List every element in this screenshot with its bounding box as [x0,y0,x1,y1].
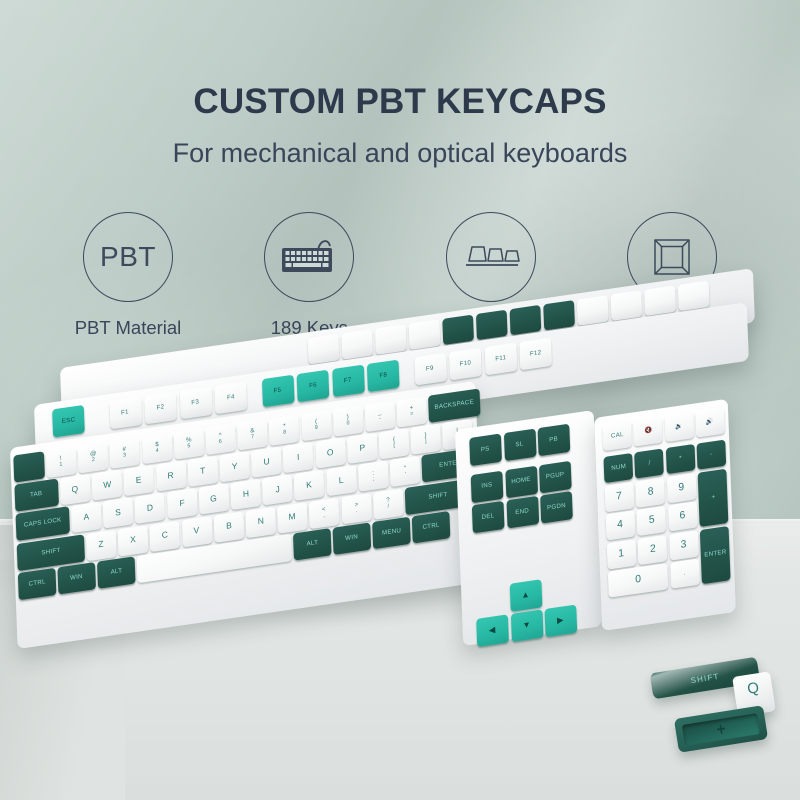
keycap-v[interactable]: V [182,516,213,547]
numpad-key-divide[interactable]: / [635,449,665,479]
rear-keycap-7[interactable] [543,300,575,331]
fn-keycap-f1[interactable]: F1 [109,397,142,430]
rear-keycap-1[interactable] [341,329,373,360]
keycap-punct[interactable]: <, [309,497,340,528]
keycap-q[interactable]: Q [60,474,91,505]
rear-keycap-6[interactable] [510,305,542,336]
arrow-down-key[interactable]: ▼ [510,609,543,642]
keycap-legend: _- [378,410,382,423]
keycap-legend: Q [72,485,79,495]
keycap-legend: F9 [426,365,434,373]
feature-189-keys: 189 Keys [221,212,397,339]
keycap-0[interactable]: )0 [333,405,364,436]
keycap-=[interactable]: += [397,396,428,427]
fn-keycap-esc[interactable]: ESC [52,405,85,438]
modifier-win[interactable]: WIN [333,522,372,555]
keycap-x[interactable]: X [118,525,149,556]
keycap-legend: CAPS LOCK [24,518,62,530]
keycap-legend: CTRL [28,579,45,588]
keycap-legend: )0 [346,415,350,428]
keycap-legend: ?/ [386,497,390,510]
keycap-z[interactable]: Z [86,529,117,560]
keycap-legend: PGUP [546,472,565,481]
keycap-legend: END [515,508,529,516]
keycap-8[interactable]: *8 [269,414,300,445]
keycap-legend: 🔉 [675,423,683,431]
page-subtitle: For mechanical and optical keyboards [0,138,800,169]
keycap-legend: P [359,444,365,454]
page-title: CUSTOM PBT KEYCAPS [0,82,800,122]
keycap-legend: ^6 [219,433,223,446]
keycap-legend: K [306,481,312,491]
fn-keycap-f7[interactable]: F7 [332,365,365,398]
feature-label: PBT Material [75,316,182,339]
keycap-legend: F4 [227,394,235,402]
keycap-legend: F7 [344,377,352,385]
keycap-legend: 2 [649,544,655,556]
keycap-legend: T [200,467,206,477]
keycap-legend: PGDN [547,503,566,512]
keycap-legend: H [242,490,249,500]
keycap-k[interactable]: K [294,470,325,501]
keycap-legend: !1 [59,456,63,469]
keycap-w[interactable]: W [92,470,123,501]
keycap-u[interactable]: U [251,447,282,478]
fn-keycap-f2[interactable]: F2 [144,392,177,425]
numpad-key-multiply[interactable]: * [666,444,696,474]
keycap-legend: TAB [30,491,43,499]
keycap-t[interactable]: T [187,456,218,487]
keycap-bracket[interactable]: {[ [379,428,410,459]
keycap-legend: + [711,494,715,501]
modifier-ctrl[interactable]: CTRL [412,511,451,544]
keycap-legend: ENTER [704,550,726,560]
rear-keycap-4[interactable] [442,315,474,346]
keyboard-icon-glyph [278,232,340,282]
keycap-legend: 4 [617,520,623,532]
keycap-b[interactable]: B [213,511,244,542]
numpad-key-plus[interactable]: + [698,468,729,527]
keycap-2[interactable]: @2 [78,442,109,473]
modifier-win[interactable]: WIN [57,562,96,595]
fn-keycap-f9[interactable]: F9 [414,353,447,386]
keycap-legend: V [194,526,200,536]
keycap-9[interactable]: (9 [301,410,332,441]
keycap-punct[interactable]: >. [341,493,372,524]
numpad-key-7[interactable]: 7 [605,482,635,512]
keycap-legend: ESC [62,417,76,425]
keyboard-icon [264,212,354,302]
keycap-legend: #3 [123,447,127,460]
fn-keycap-f10[interactable]: F10 [449,348,482,381]
modifier-alt[interactable]: ALT [293,528,332,561]
modifier-alt[interactable]: ALT [97,556,136,589]
keycap-legend: F8 [379,372,387,380]
nav-key-del[interactable]: DEL [472,501,505,534]
nav-key-pb[interactable]: PB [538,424,571,457]
nav-key-sl[interactable]: SL [503,429,536,462]
keycap-legend: :; [372,470,374,482]
fn-keycap-f11[interactable]: F11 [484,343,517,376]
media-key-volume[interactable]: 🔉 [664,412,694,442]
keycap-legend: Z [98,540,104,550]
media-key-calculator[interactable]: CAL [602,421,632,451]
rear-keycap-0[interactable] [308,334,340,365]
keycap-legend: "' [404,466,407,478]
keycap-a[interactable]: A [71,502,102,533]
keycap-legend: F12 [530,350,542,358]
keycap-legend: ALT [110,568,122,576]
numpad-key-enter[interactable]: ENTER [700,525,731,584]
pbt-icon-label: PBT [100,241,156,273]
keycap-legend: DEL [482,513,495,521]
keycap-e[interactable]: E [124,465,155,496]
keycap-y[interactable]: Y [219,451,250,482]
keycap-legend: CAL [611,432,624,440]
keycap-punct[interactable]: "' [390,456,421,487]
keycap-legend: ▲ [521,590,530,600]
keycap-legend: F6 [309,382,317,390]
keycap-legend: 0 [635,574,641,586]
nav-key-ins[interactable]: INS [471,470,504,503]
modifier-menu[interactable]: MENU [372,516,411,549]
arrow-up-key[interactable]: ▲ [509,579,542,612]
media-key-volume[interactable]: 🔊 [695,407,725,437]
keycap-s[interactable]: S [103,497,134,528]
keycap-legend: E [136,476,142,486]
keycap-legend: >. [354,502,358,515]
rear-keycap-8[interactable] [577,295,609,326]
keycap-legend: F3 [192,399,200,407]
keycap-legend: F5 [274,387,282,395]
fn-keycap-f5[interactable]: F5 [261,375,294,408]
keycap-1[interactable]: !1 [46,447,77,478]
product-banner: CUSTOM PBT KEYCAPS For mechanical and op… [0,0,800,800]
keycap-h[interactable]: H [230,479,261,510]
keycap-legend: 9 [678,482,684,494]
numpad-key-dot[interactable]: . [670,559,700,589]
keycap-legend: $4 [155,442,159,455]
keycap-legend: / [648,461,650,468]
keycap-legend: }] [424,433,427,445]
keycap-legend: F [179,499,185,509]
keycap-4[interactable]: $4 [142,433,173,464]
keycap-legend: HOME [511,477,531,486]
keycap-legend: PS [481,446,490,454]
keycap-7[interactable]: &7 [237,419,268,450]
keycap-legend: F2 [157,404,165,412]
pbt-text-icon: PBT [83,212,173,302]
keycap-legend: += [410,405,414,418]
keycap-l[interactable]: L [326,465,357,496]
keycap-punct[interactable]: :; [358,461,389,492]
tilde-key[interactable] [13,451,45,483]
keycap-o[interactable]: O [315,437,346,468]
keycap-3[interactable]: #3 [110,437,141,468]
keycap-legend: N [257,517,264,527]
keycap-profile-icon [446,212,536,302]
keycap-f[interactable]: F [167,488,198,519]
keycap-legend: - [710,452,713,459]
keycap-legend: S [115,508,121,518]
arrow-left-key[interactable]: ◀ [476,614,509,647]
keycap-legend: BACKSPACE [435,400,475,412]
keycap-legend: NUM [611,464,626,473]
keycap-legend: I [297,453,300,462]
keycap-legend: D [147,504,154,514]
fn-keycap-f4[interactable]: F4 [214,382,247,415]
keycap-legend: F10 [460,360,472,368]
rear-keycap-9[interactable] [611,290,643,321]
numpad-key-8[interactable]: 8 [636,477,666,507]
numpad-key-num[interactable]: NUM [603,453,633,483]
keycap-legend: * [679,456,682,463]
keycap-c[interactable]: C [150,520,181,551]
numpad-key-2[interactable]: 2 [638,534,668,564]
nav-key-ps[interactable]: PS [469,433,502,466]
keycap-legend: %5 [186,437,192,450]
keycap-legend: ◀ [489,626,496,636]
fn-keycap-f3[interactable]: F3 [179,387,212,420]
keycap-legend: {[ [393,438,396,450]
keycap-legend: INS [481,482,492,490]
arrow-right-key[interactable]: ▶ [544,605,577,638]
fn-keycap-f8[interactable]: F8 [367,360,400,393]
keycap-legend: CTRL [422,523,439,532]
keycap-legend: A [83,513,89,523]
rear-keycap-5[interactable] [476,310,508,341]
loose-q-legend: Q [746,679,760,698]
keycap-legend: SHIFT [428,492,447,501]
keycap-legend: 🔊 [706,419,714,427]
rear-keycap-10[interactable] [644,285,676,316]
keycap-legend: R [168,471,175,481]
keycap-legend: WIN [345,534,358,542]
keycap-d[interactable]: D [135,493,166,524]
keycap-legend: B [226,522,232,532]
keycap-legend: O [327,448,334,458]
numpad-key-minus[interactable]: - [697,440,727,470]
keycap-legend: X [130,536,136,546]
keycap-legend: SHIFT [41,548,60,557]
keycap-legend: J [275,485,280,495]
keycap-5[interactable]: %5 [173,428,204,459]
keycap-legend: MENU [382,528,401,537]
numpad-key-6[interactable]: 6 [668,501,698,531]
keycap-p[interactable]: P [347,433,378,464]
keycap-legend: 3 [681,539,687,551]
modifier-ctrl[interactable]: CTRL [18,568,57,601]
keycap-legend: &7 [250,428,255,441]
keycap-legend: 6 [679,511,685,523]
keycap-g[interactable]: G [198,484,229,515]
numpad-key-9[interactable]: 9 [667,473,697,503]
numpad-key-4[interactable]: 4 [606,510,636,540]
numpad-key-3[interactable]: 3 [669,530,699,560]
keycap-legend: *8 [283,424,287,437]
keycap-punct[interactable]: ?/ [373,488,404,519]
keycap-legend: . [684,570,686,577]
keycap-i[interactable]: I [283,442,314,473]
nav-key-pgdn[interactable]: PGDN [540,491,573,524]
feature-pbt-material: PBT PBT Material [40,212,216,339]
keycap-legend: (9 [314,419,318,432]
keycap-legend: 8 [647,487,653,499]
keycap-legend: C [162,531,169,541]
numpad-key-1[interactable]: 1 [607,539,637,569]
keycap-m[interactable]: M [277,502,308,533]
keycap-legend: 🔇 [644,428,652,436]
keycap-legend: ▼ [522,621,531,631]
fn-keycap-f12[interactable]: F12 [519,338,552,371]
keycap-j[interactable]: J [262,474,293,505]
keycap-legend: F1 [121,409,129,417]
fn-keycap-f6[interactable]: F6 [297,370,330,403]
rear-keycap-2[interactable] [375,324,407,355]
keycap-legend: SL [516,441,524,449]
keycap-legend: M [289,512,297,522]
keycap-legend: PB [549,436,558,444]
keycap-legend: ALT [306,540,318,548]
numpad-key-5[interactable]: 5 [637,506,667,536]
keycap-legend: <, [322,507,326,520]
rear-keycap-11[interactable] [678,281,710,312]
keycap-legend: U [263,457,270,467]
media-key-volume[interactable]: 🔇 [633,416,663,446]
keycap-legend: ▶ [557,616,564,626]
keycap-legend: WIN [70,574,83,582]
nav-key-end[interactable]: END [506,496,539,529]
keycap-legend: 7 [616,491,622,503]
keycap-legend: L [339,476,344,486]
keycap-legend: W [103,480,112,490]
keycap-legend: F11 [495,355,506,363]
keycap-legend: Y [232,462,238,472]
keycap--[interactable]: _- [365,401,396,432]
keycap-profile-icon-glyph [460,235,522,279]
keycap-legend: 5 [648,515,654,527]
keycap-legend: 1 [618,548,624,560]
keycap-r[interactable]: R [156,460,187,491]
keycap-bracket[interactable]: }] [411,424,442,455]
rear-keycap-3[interactable] [409,319,441,350]
keycap-legend: G [210,494,217,504]
keycap-6[interactable]: ^6 [205,424,236,455]
loose-shift-legend: SHIFT [690,671,720,684]
keycap-n[interactable]: N [245,506,276,537]
keycap-wireframe-icon-glyph [648,233,696,281]
nav-key-pgup[interactable]: PGUP [539,460,572,493]
keycap-legend: @2 [90,451,97,464]
nav-key-home[interactable]: HOME [505,465,538,498]
